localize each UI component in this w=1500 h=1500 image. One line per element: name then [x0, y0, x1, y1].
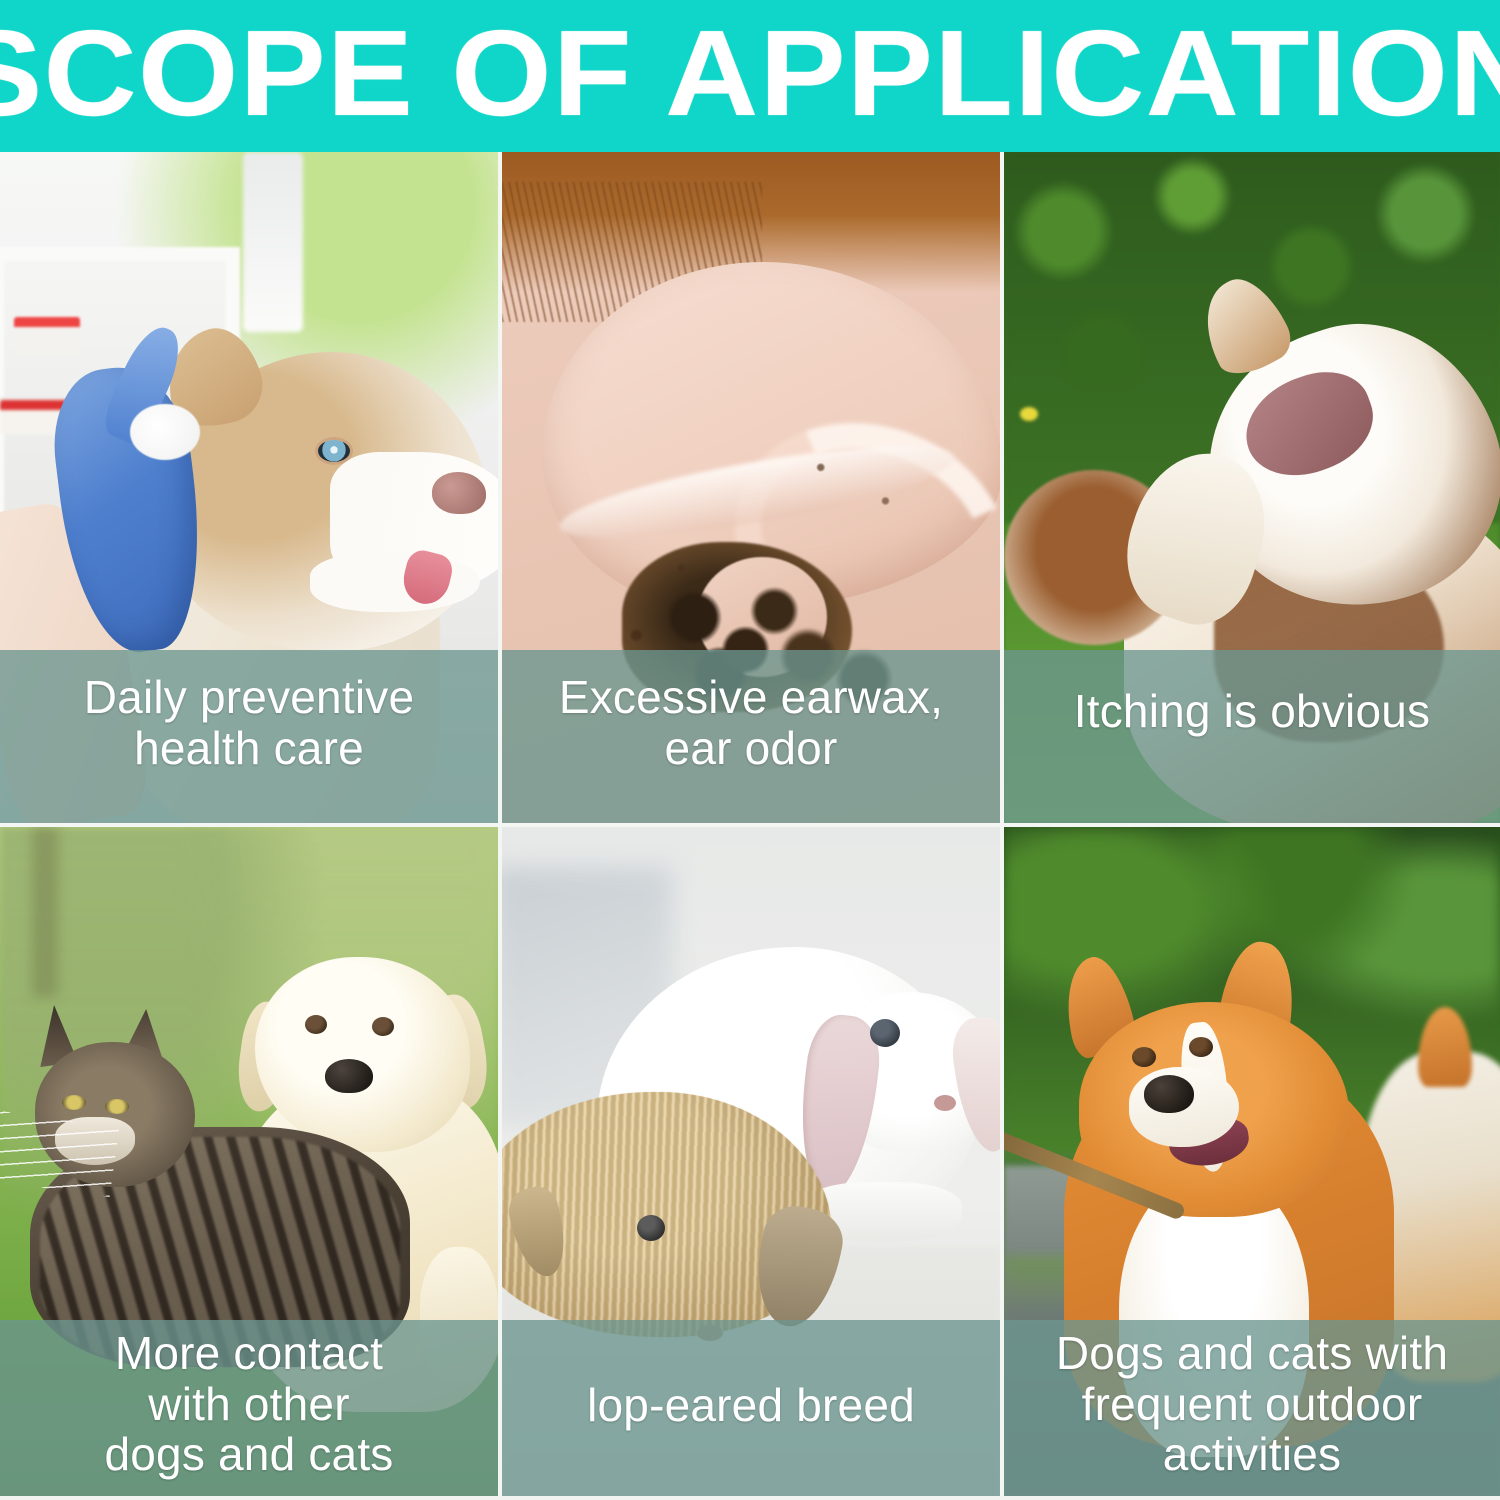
- infographic-page: SCOPE OF APPLICATION: [0, 0, 1500, 1500]
- tree-trunk-shape: [32, 827, 58, 997]
- caption-line: Itching is obvious: [1074, 686, 1430, 737]
- caption-line: ear odor: [665, 723, 838, 774]
- dog-chin-shape: [310, 552, 480, 612]
- cat-eye-left-shape: [62, 1095, 86, 1110]
- corgi-eye-left-shape: [1132, 1047, 1156, 1067]
- caption-excessive-earwax-ear-odor: Excessive earwax, ear odor: [502, 650, 1000, 823]
- caption-more-contact-with-other-dogs-and-cats: More contact with other dogs and cats: [0, 1320, 498, 1496]
- dog-nose-shape: [432, 472, 486, 514]
- caption-lop-eared-breed: lop-eared breed: [502, 1320, 1000, 1496]
- caption-line: health care: [134, 723, 364, 774]
- clinic-bottle-shape: [243, 152, 303, 332]
- scope-cell-more-contact-with-other-dogs-and-cats[interactable]: More contact with other dogs and cats: [0, 827, 498, 1496]
- dandelion-shape: [1020, 407, 1038, 421]
- caption-line: frequent outdoor: [1082, 1379, 1423, 1430]
- caption-itching-is-obvious: Itching is obvious: [1004, 650, 1500, 823]
- clinic-vials-shape: [14, 317, 80, 353]
- caption-line: lop-eared breed: [587, 1380, 915, 1431]
- puppy-nose-shape: [325, 1059, 373, 1093]
- white-rabbit-eye-shape: [870, 1019, 900, 1047]
- white-rabbit-nose-shape: [934, 1095, 956, 1111]
- tan-rabbit-eye-shape: [637, 1215, 665, 1241]
- puppy-eye-right-shape: [372, 1017, 394, 1036]
- caption-daily-preventive-health-care: Daily preventive health care: [0, 650, 498, 823]
- application-scope-grid: Daily preventive health care Excessive e…: [0, 152, 1500, 1500]
- cat-eye-right-shape: [105, 1099, 129, 1114]
- cotton-pad-shape: [130, 404, 200, 460]
- scope-cell-dogs-and-cats-with-frequent-outdoor-activities[interactable]: Dogs and cats with frequent outdoor acti…: [1004, 827, 1500, 1496]
- caption-line: with other: [148, 1379, 349, 1430]
- page-title: SCOPE OF APPLICATION: [0, 12, 1500, 140]
- puppy-eye-left-shape: [305, 1015, 327, 1034]
- caption-line: Excessive earwax,: [559, 672, 943, 723]
- caption-line: Dogs and cats with: [1056, 1328, 1448, 1379]
- corgi-nose-shape: [1144, 1075, 1194, 1113]
- dog-eye-shape: [318, 440, 350, 462]
- scope-cell-daily-preventive-health-care[interactable]: Daily preventive health care: [0, 152, 498, 823]
- caption-line: dogs and cats: [104, 1429, 393, 1480]
- scope-cell-itching-is-obvious[interactable]: Itching is obvious: [1004, 152, 1500, 823]
- corgi-eye-right-shape: [1189, 1037, 1213, 1057]
- caption-line: Daily preventive: [84, 672, 414, 723]
- caption-line: activities: [1163, 1429, 1341, 1480]
- caption-dogs-and-cats-with-frequent-outdoor-activities: Dogs and cats with frequent outdoor acti…: [1004, 1320, 1500, 1496]
- caption-line: More contact: [115, 1328, 383, 1379]
- scope-cell-lop-eared-breed[interactable]: lop-eared breed: [502, 827, 1000, 1496]
- header-band: SCOPE OF APPLICATION: [0, 0, 1500, 152]
- scope-cell-excessive-earwax-ear-odor[interactable]: Excessive earwax, ear odor: [502, 152, 1000, 823]
